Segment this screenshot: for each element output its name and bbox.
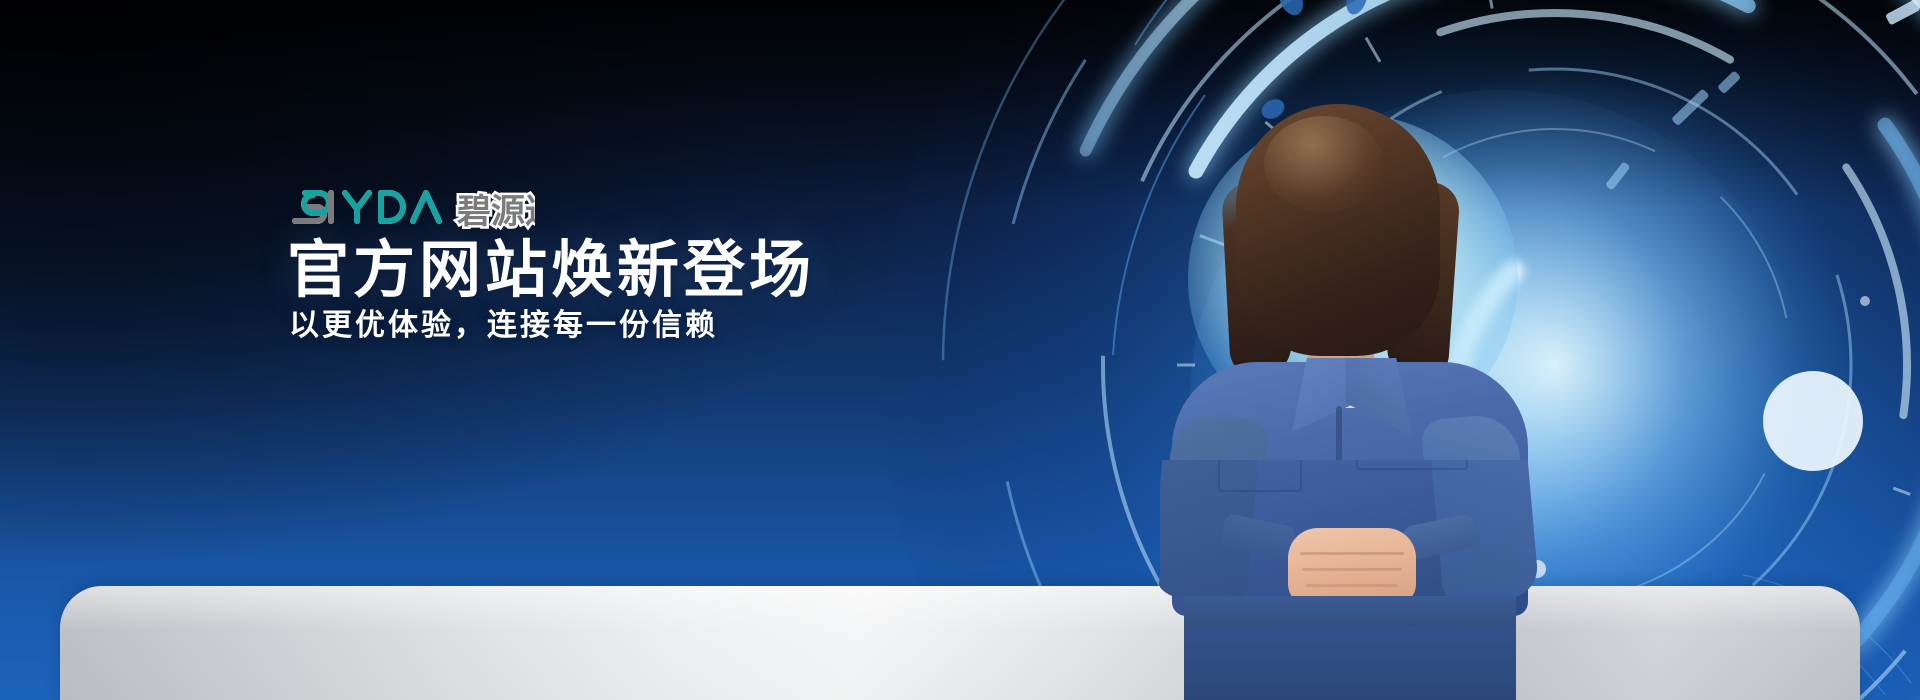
page-title: 官方网站焕新登场 xyxy=(287,232,815,310)
hair-highlight xyxy=(1264,116,1384,212)
hero-banner: 碧源达 官方网站焕新登场 以更优体验，连接每一份信赖 xyxy=(0,0,1920,700)
background-top-fade xyxy=(0,0,1920,210)
button-placket xyxy=(1336,406,1342,606)
page-subtitle: 以更优体验，连接每一份信赖 xyxy=(289,305,718,347)
logo-chinese-name: 碧源达 xyxy=(457,192,535,232)
chest-pocket-secondary xyxy=(1218,516,1302,578)
silver-rounded-panel xyxy=(60,586,1860,700)
chest-pocket xyxy=(1356,496,1468,556)
panel-sheen xyxy=(60,586,1860,700)
